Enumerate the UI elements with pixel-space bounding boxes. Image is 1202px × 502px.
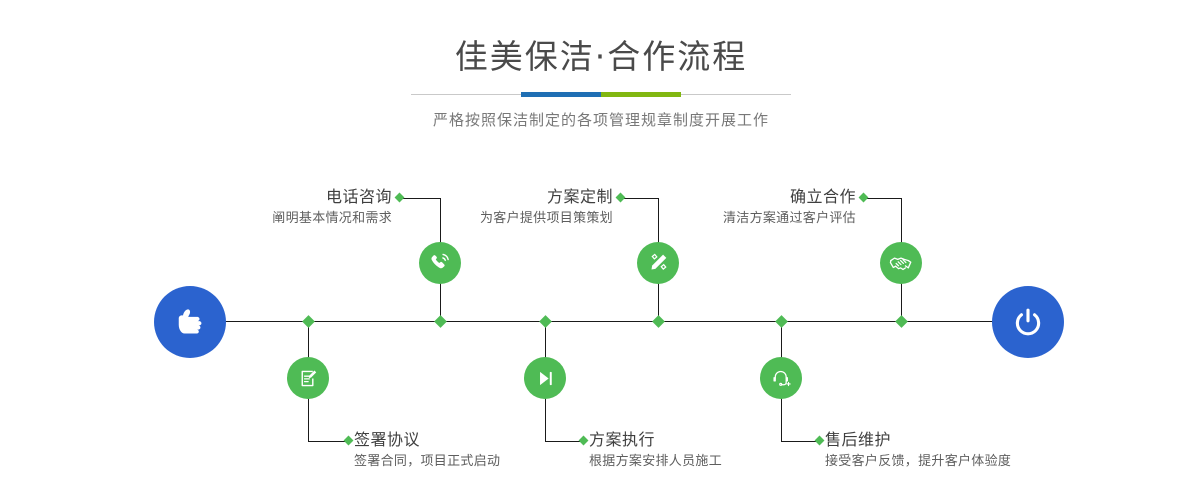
step-3-label-marker (616, 193, 626, 203)
step-6-desc: 接受客户反馈，提升客户体验度 (825, 452, 1011, 472)
step-2-name: 签署协议 (354, 429, 500, 451)
step-2-label-marker (344, 436, 354, 446)
step-6-label-marker (815, 436, 825, 446)
step-1-label: 电话咨询 阐明基本情况和需求 (170, 186, 392, 229)
power-icon (1008, 302, 1048, 342)
step-4-name: 方案执行 (589, 429, 722, 451)
hand-point-right-icon (170, 302, 210, 342)
step-2-node[interactable] (287, 357, 329, 399)
step-6-connector-horizontal (781, 441, 819, 442)
step-3-label: 方案定制 为客户提供项目策策划 (395, 186, 613, 229)
process-timeline: 电话咨询 阐明基本情况和需求 签署协议 签署合同，项目正式启动 (0, 0, 1202, 502)
step-4-desc: 根据方案安排人员施工 (589, 452, 722, 472)
flow-chart-page: 佳美保洁·合作流程 严格按照保洁制定的各项管理规章制度开展工作 (0, 0, 1202, 502)
step-1-desc: 阐明基本情况和需求 (170, 209, 392, 229)
step-3-name: 方案定制 (395, 186, 613, 208)
step-5-node[interactable] (880, 242, 922, 284)
step-2-connector-horizontal (308, 441, 348, 442)
step-4-label: 方案执行 根据方案安排人员施工 (589, 429, 722, 472)
step-5-axis-marker (895, 315, 908, 328)
handshake-icon (888, 250, 914, 276)
step-2-desc: 签署合同，项目正式启动 (354, 452, 500, 472)
step-1-name: 电话咨询 (170, 186, 392, 208)
step-4-axis-marker (539, 315, 552, 328)
phone-call-icon (427, 250, 453, 276)
document-edit-icon (296, 366, 321, 391)
step-3-desc: 为客户提供项目策策划 (395, 209, 613, 229)
step-6-name: 售后维护 (825, 429, 1011, 451)
step-2-label: 签署协议 签署合同，项目正式启动 (354, 429, 500, 472)
step-5-name: 确立合作 (640, 186, 856, 208)
timeline-start-endpoint (154, 286, 226, 358)
play-skip-icon (533, 366, 558, 391)
step-4-connector-horizontal (545, 441, 583, 442)
step-6-axis-marker (775, 315, 788, 328)
step-6-node[interactable] (760, 357, 802, 399)
step-2-axis-marker (302, 315, 315, 328)
step-5-label-marker (859, 193, 869, 203)
step-6-label: 售后维护 接受客户反馈，提升客户体验度 (825, 429, 1011, 472)
step-5-connector-horizontal (864, 198, 901, 199)
step-5-desc: 清洁方案通过客户评估 (640, 209, 856, 229)
customer-service-icon (769, 366, 794, 391)
step-1-node[interactable] (419, 242, 461, 284)
timeline-end-endpoint (992, 286, 1064, 358)
pencil-design-icon (645, 250, 671, 276)
step-5-label: 确立合作 清洁方案通过客户评估 (640, 186, 856, 229)
step-3-axis-marker (652, 315, 665, 328)
step-3-node[interactable] (637, 242, 679, 284)
step-4-label-marker (579, 436, 589, 446)
step-1-axis-marker (434, 315, 447, 328)
step-4-node[interactable] (524, 357, 566, 399)
